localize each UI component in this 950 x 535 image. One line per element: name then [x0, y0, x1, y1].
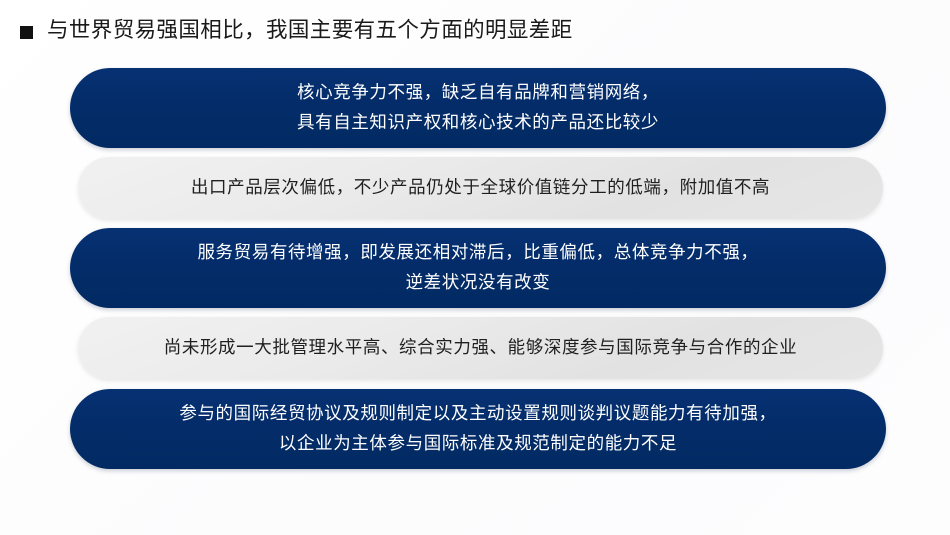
gap-item-3-label: 服务贸易有待增强，即发展还相对滞后，比重偏低，总体竞争力不强， 逆差状况没有改变	[197, 238, 758, 298]
slide-title: 与世界贸易强国相比，我国主要有五个方面的明显差距	[20, 18, 573, 45]
gap-item-1-label: 核心竞争力不强，缺乏自有品牌和营销网络， 具有自主知识产权和核心技术的产品还比较…	[297, 78, 659, 138]
page-title: 与世界贸易强国相比，我国主要有五个方面的明显差距	[47, 18, 573, 45]
gap-item-5-label: 参与的国际经贸协议及规则制定以及主动设置规则谈判议题能力有待加强， 以企业为主体…	[179, 399, 776, 459]
gap-item-1[interactable]: 核心竞争力不强，缺乏自有品牌和营销网络， 具有自主知识产权和核心技术的产品还比较…	[70, 68, 886, 148]
gap-item-4[interactable]: 尚未形成一大批管理水平高、综合实力强、能够深度参与国际竞争与合作的企业	[78, 317, 883, 379]
gap-item-3[interactable]: 服务贸易有待增强，即发展还相对滞后，比重偏低，总体竞争力不强， 逆差状况没有改变	[70, 228, 886, 308]
gap-item-2-label: 出口产品层次偏低，不少产品仍处于全球价值链分工的低端，附加值不高	[191, 175, 770, 201]
gap-item-5[interactable]: 参与的国际经贸协议及规则制定以及主动设置规则谈判议题能力有待加强， 以企业为主体…	[70, 389, 886, 469]
slide-canvas: 与世界贸易强国相比，我国主要有五个方面的明显差距 核心竞争力不强，缺乏自有品牌和…	[0, 0, 950, 535]
square-bullet-icon	[20, 26, 33, 39]
gap-item-2[interactable]: 出口产品层次偏低，不少产品仍处于全球价值链分工的低端，附加值不高	[78, 157, 883, 219]
gap-item-4-label: 尚未形成一大批管理水平高、综合实力强、能够深度参与国际竞争与合作的企业	[164, 335, 798, 361]
